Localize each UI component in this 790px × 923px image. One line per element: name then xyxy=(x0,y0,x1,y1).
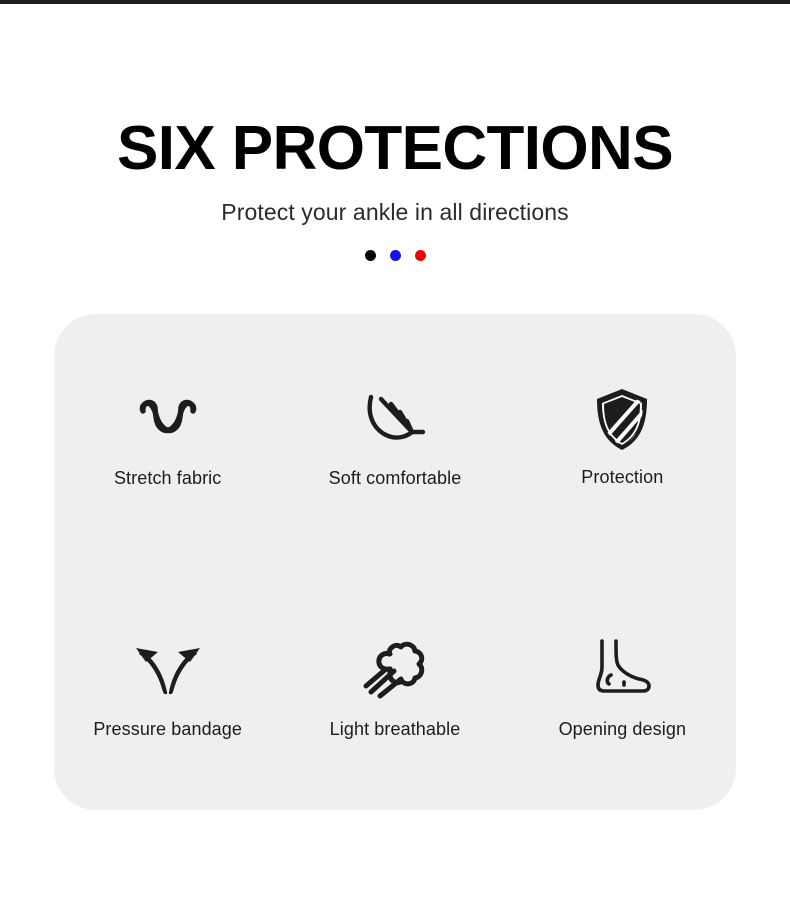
wind-cloud-icon xyxy=(360,633,430,705)
feature-item-stretch-fabric[interactable]: Stretch fabric xyxy=(54,381,281,495)
feature-item-pressure-bandage[interactable]: Pressure bandage xyxy=(54,632,281,740)
feather-icon xyxy=(362,382,428,454)
stretch-fabric-icon xyxy=(136,381,200,453)
feature-label: Soft comfortable xyxy=(329,467,462,489)
feature-label: Stretch fabric xyxy=(114,467,221,489)
feature-item-opening-design[interactable]: Opening design xyxy=(509,632,736,740)
dot-black[interactable] xyxy=(365,250,376,261)
feature-label: Light breathable xyxy=(330,718,461,740)
product-feature-page: SIX PROTECTIONS Protect your ankle in al… xyxy=(0,0,790,923)
crossed-arrows-icon xyxy=(131,632,205,704)
feature-label: Pressure bandage xyxy=(93,718,242,740)
dot-red[interactable] xyxy=(415,250,426,261)
dot-blue[interactable] xyxy=(390,250,401,261)
feature-grid: Stretch fabric xyxy=(54,314,736,810)
feature-card: Stretch fabric xyxy=(54,314,736,810)
page-title: SIX PROTECTIONS xyxy=(0,118,790,180)
feature-item-soft-comfortable[interactable]: Soft comfortable xyxy=(281,381,508,495)
shield-icon xyxy=(593,383,651,455)
feature-item-protection[interactable]: Protection xyxy=(509,381,736,495)
foot-ankle-icon xyxy=(591,631,653,703)
page-subtitle: Protect your ankle in all directions xyxy=(0,197,790,227)
feature-label: Opening design xyxy=(559,718,687,740)
feature-label: Protection xyxy=(581,466,663,488)
feature-item-light-breathable[interactable]: Light breathable xyxy=(281,632,508,740)
color-dot-list xyxy=(0,250,790,261)
top-strip xyxy=(0,0,790,4)
